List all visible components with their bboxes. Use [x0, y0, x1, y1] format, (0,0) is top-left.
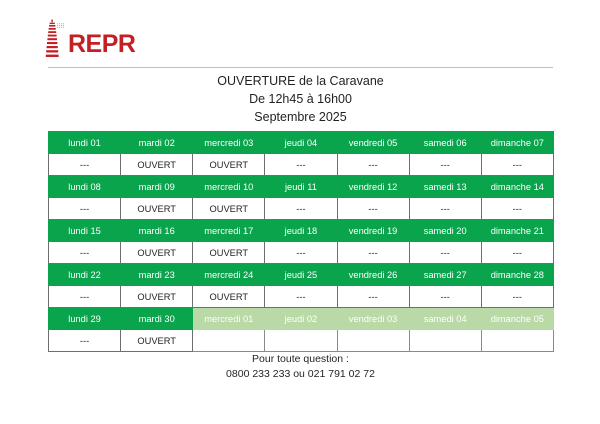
- calendar-day-cell: samedi 20: [409, 220, 481, 242]
- calendar-status-cell: ---: [49, 330, 121, 352]
- calendar-day-cell: lundi 22: [49, 264, 121, 286]
- opening-calendar: lundi 01mardi 02mercredi 03jeudi 04vendr…: [48, 131, 554, 352]
- calendar-day-cell: lundi 29: [49, 308, 121, 330]
- calendar-day-cell: mardi 23: [121, 264, 193, 286]
- document-page: REPR OUVERTURE de la Caravane De 12h45 à…: [0, 0, 600, 424]
- calendar-status-cell: [337, 330, 409, 352]
- calendar-status-cell: ---: [265, 242, 337, 264]
- calendar-day-cell: jeudi 04: [265, 132, 337, 154]
- calendar-day-cell: vendredi 12: [337, 176, 409, 198]
- calendar-status-cell: ---: [409, 286, 481, 308]
- calendar-status-cell: [481, 330, 553, 352]
- calendar-status-cell: OUVERT: [193, 286, 265, 308]
- calendar-day-cell: jeudi 18: [265, 220, 337, 242]
- calendar-status-cell: OUVERT: [121, 154, 193, 176]
- title-line-2: De 12h45 à 16h00: [48, 90, 553, 108]
- calendar-status-cell: ---: [337, 286, 409, 308]
- calendar-day-row: lundi 08mardi 09mercredi 10jeudi 11vendr…: [49, 176, 554, 198]
- calendar-day-cell: lundi 15: [49, 220, 121, 242]
- calendar-status-row: ---OUVERTOUVERT------------: [49, 198, 554, 220]
- calendar-status-cell: ---: [49, 286, 121, 308]
- footer-line-2: 0800 233 233 ou 021 791 02 72: [48, 367, 553, 382]
- calendar-day-cell: jeudi 11: [265, 176, 337, 198]
- calendar-day-cell: dimanche 28: [481, 264, 553, 286]
- calendar-day-cell: samedi 27: [409, 264, 481, 286]
- calendar-day-cell: jeudi 02: [265, 308, 337, 330]
- calendar-day-cell: jeudi 25: [265, 264, 337, 286]
- calendar-day-cell: mardi 09: [121, 176, 193, 198]
- calendar-status-cell: [193, 330, 265, 352]
- calendar-day-row: lundi 01mardi 02mercredi 03jeudi 04vendr…: [49, 132, 554, 154]
- calendar-status-cell: ---: [49, 242, 121, 264]
- calendar-status-cell: ---: [265, 198, 337, 220]
- calendar-status-cell: OUVERT: [193, 154, 265, 176]
- calendar-day-cell: dimanche 05: [481, 308, 553, 330]
- calendar-day-cell: dimanche 07: [481, 132, 553, 154]
- title-line-1: OUVERTURE de la Caravane: [48, 72, 553, 90]
- calendar-status-row: ---OUVERT: [49, 330, 554, 352]
- calendar-status-cell: OUVERT: [121, 198, 193, 220]
- calendar-status-row: ---OUVERTOUVERT------------: [49, 154, 554, 176]
- calendar-day-cell: vendredi 19: [337, 220, 409, 242]
- calendar-day-cell: vendredi 05: [337, 132, 409, 154]
- calendar-day-cell: mercredi 24: [193, 264, 265, 286]
- header-divider: [48, 67, 553, 68]
- calendar-status-cell: ---: [337, 154, 409, 176]
- brand-name: REPR: [68, 32, 135, 57]
- brand-logo: REPR: [44, 19, 174, 63]
- calendar-day-cell: dimanche 14: [481, 176, 553, 198]
- calendar-status-row: ---OUVERTOUVERT------------: [49, 286, 554, 308]
- calendar-day-cell: mardi 16: [121, 220, 193, 242]
- calendar-status-cell: OUVERT: [193, 198, 265, 220]
- calendar-status-row: ---OUVERTOUVERT------------: [49, 242, 554, 264]
- calendar-day-cell: lundi 08: [49, 176, 121, 198]
- calendar-day-row: lundi 22mardi 23mercredi 24jeudi 25vendr…: [49, 264, 554, 286]
- calendar-status-cell: ---: [49, 154, 121, 176]
- calendar-status-cell: [265, 330, 337, 352]
- calendar-day-cell: mercredi 10: [193, 176, 265, 198]
- calendar-status-cell: OUVERT: [121, 286, 193, 308]
- calendar-status-cell: ---: [265, 154, 337, 176]
- calendar-status-cell: ---: [481, 198, 553, 220]
- calendar-status-cell: OUVERT: [193, 242, 265, 264]
- calendar-day-cell: samedi 06: [409, 132, 481, 154]
- calendar-status-cell: ---: [49, 198, 121, 220]
- calendar-status-cell: ---: [337, 242, 409, 264]
- calendar-status-cell: ---: [409, 242, 481, 264]
- calendar-day-row: lundi 29mardi 30mercredi 01jeudi 02vendr…: [49, 308, 554, 330]
- footer-contact: Pour toute question : 0800 233 233 ou 02…: [48, 352, 553, 382]
- calendar-status-cell: ---: [481, 154, 553, 176]
- calendar-status-cell: OUVERT: [121, 242, 193, 264]
- calendar-day-cell: mercredi 01: [193, 308, 265, 330]
- calendar-status-cell: OUVERT: [121, 330, 193, 352]
- calendar-status-cell: ---: [409, 154, 481, 176]
- calendar-status-cell: ---: [481, 242, 553, 264]
- calendar-day-cell: vendredi 26: [337, 264, 409, 286]
- calendar-day-cell: dimanche 21: [481, 220, 553, 242]
- calendar-status-cell: ---: [409, 198, 481, 220]
- title-line-3: Septembre 2025: [48, 108, 553, 126]
- page-title: OUVERTURE de la Caravane De 12h45 à 16h0…: [48, 72, 553, 126]
- calendar-status-cell: ---: [337, 198, 409, 220]
- calendar-status-cell: ---: [265, 286, 337, 308]
- calendar-status-cell: [409, 330, 481, 352]
- footer-line-1: Pour toute question :: [48, 352, 553, 367]
- calendar-day-cell: mercredi 03: [193, 132, 265, 154]
- calendar-status-cell: ---: [481, 286, 553, 308]
- calendar-day-cell: mardi 02: [121, 132, 193, 154]
- calendar-day-row: lundi 15mardi 16mercredi 17jeudi 18vendr…: [49, 220, 554, 242]
- calendar-day-cell: samedi 04: [409, 308, 481, 330]
- calendar-day-cell: vendredi 03: [337, 308, 409, 330]
- calendar-body: lundi 01mardi 02mercredi 03jeudi 04vendr…: [49, 132, 554, 352]
- lighthouse-icon: [44, 19, 66, 59]
- calendar-day-cell: mercredi 17: [193, 220, 265, 242]
- calendar-day-cell: lundi 01: [49, 132, 121, 154]
- calendar-day-cell: samedi 13: [409, 176, 481, 198]
- calendar-day-cell: mardi 30: [121, 308, 193, 330]
